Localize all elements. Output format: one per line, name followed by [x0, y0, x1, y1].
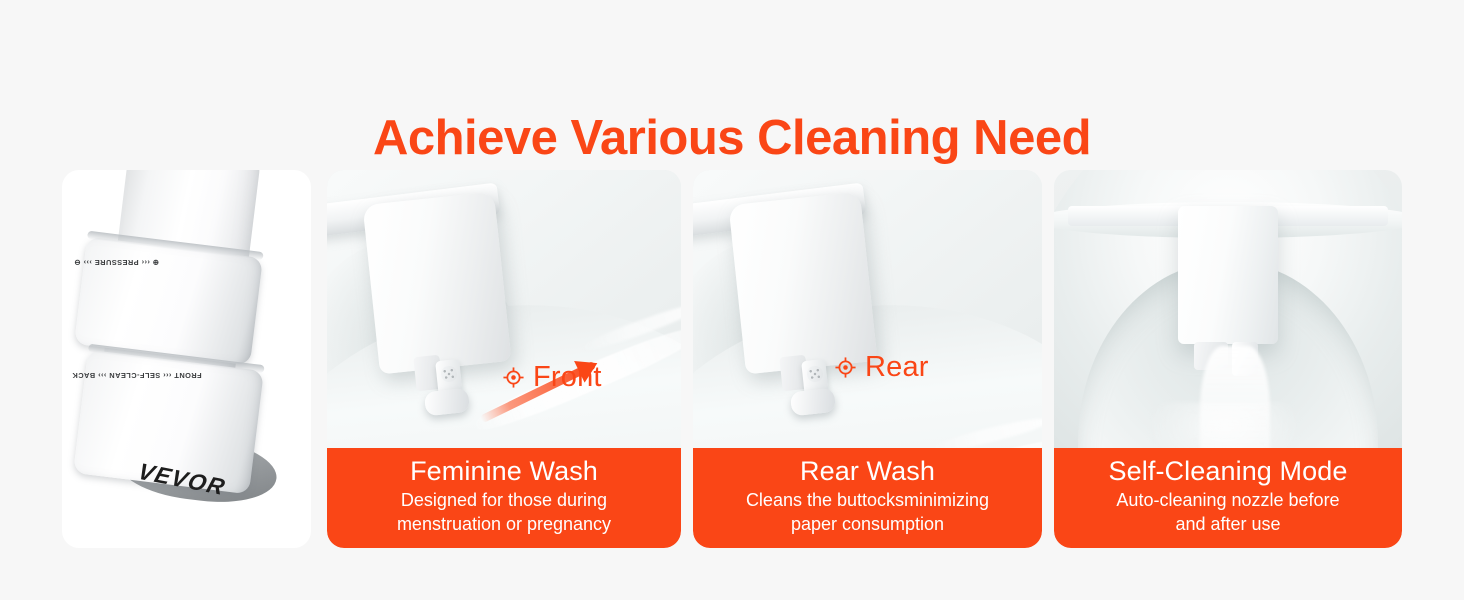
- pointer-label-text: Front: [533, 363, 602, 392]
- nozzle-housing: [728, 192, 877, 375]
- pressure-knob-label: ⊕ ‹‹‹ PRESSURE ››› ⊖: [74, 258, 159, 267]
- caption-title: Self-Cleaning Mode: [1054, 454, 1402, 488]
- mode-knob-label: FRONT ‹‹‹ SELF-CLEAN ››› BACK: [72, 371, 202, 380]
- promo-banner: Achieve Various Cleaning Need ⊕ ‹‹‹ PRES…: [0, 0, 1464, 600]
- caption-title: Feminine Wash: [327, 454, 681, 488]
- caption-subtitle-line2: paper consumption: [693, 512, 1042, 536]
- caption-subtitle-line1: Designed for those during: [327, 488, 681, 512]
- product-photo-card: ⊕ ‹‹‹ PRESSURE ››› ⊖ FRONT ‹‹‹ SELF-CLEA…: [62, 170, 311, 548]
- caption-band-feminine-wash: Feminine Wash Designed for those during …: [327, 448, 681, 548]
- nozzle-housing: [1178, 206, 1278, 344]
- page-title: Achieve Various Cleaning Need: [0, 107, 1464, 169]
- feature-card-rail: ⊕ ‹‹‹ PRESSURE ››› ⊖ FRONT ‹‹‹ SELF-CLEA…: [62, 170, 1402, 548]
- feature-card-self-cleaning-mode: Self-Cleaning Mode Auto-cleaning nozzle …: [1054, 170, 1402, 548]
- feature-card-feminine-wash: Front Feminine Wash Designed for those d…: [327, 170, 681, 548]
- caption-subtitle-line2: menstruation or pregnancy: [327, 512, 681, 536]
- pointer-label-rear: Rear: [835, 353, 929, 382]
- caption-title: Rear Wash: [693, 454, 1042, 488]
- caption-subtitle-line1: Cleans the buttocksminimizing: [693, 488, 1042, 512]
- product-image: ⊕ ‹‹‹ PRESSURE ››› ⊖ FRONT ‹‹‹ SELF-CLEA…: [62, 170, 311, 548]
- caption-subtitle-line2: and after use: [1054, 512, 1402, 536]
- pointer-label-text: Rear: [865, 353, 929, 382]
- target-icon: [503, 367, 524, 388]
- caption-band-self-cleaning-mode: Self-Cleaning Mode Auto-cleaning nozzle …: [1054, 448, 1402, 548]
- nozzle-housing: [362, 192, 511, 375]
- caption-band-rear-wash: Rear Wash Cleans the buttocksminimizing …: [693, 448, 1042, 548]
- feature-card-rear-wash: Rear Rear Wash Cleans the buttocksminimi…: [693, 170, 1042, 548]
- pointer-label-front: Front: [503, 363, 602, 392]
- target-icon: [835, 357, 856, 378]
- caption-subtitle-line1: Auto-cleaning nozzle before: [1054, 488, 1402, 512]
